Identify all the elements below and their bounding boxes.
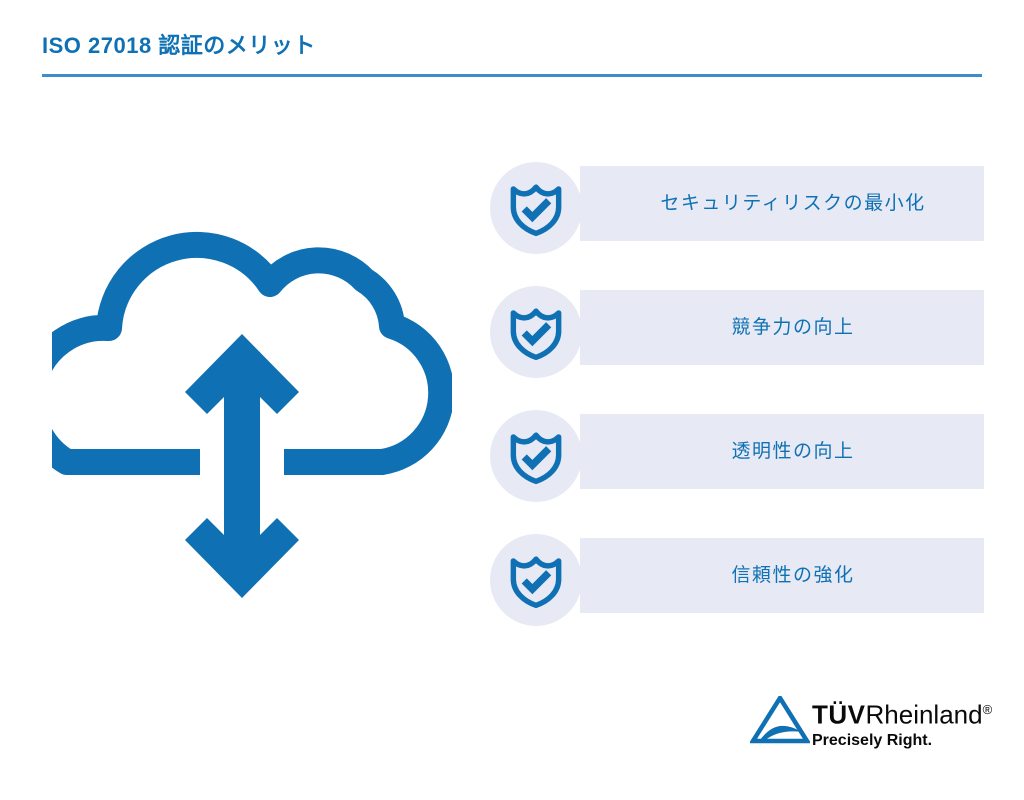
tuv-rheinland-triangle-icon (750, 696, 810, 744)
tuv-rheinland-logo: TÜVRheinland® Precisely Right. (750, 694, 988, 756)
benefit-row[interactable]: 競争力の向上 (490, 286, 984, 378)
logo-brand-regular: Rheinland (866, 700, 983, 730)
logo-brand-bold: TÜV (812, 700, 866, 730)
benefit-label: セキュリティリスクの最小化 (638, 191, 925, 217)
shield-check-icon (490, 286, 582, 378)
benefit-row[interactable]: 透明性の向上 (490, 410, 984, 502)
page-title: ISO 27018 認証のメリット (42, 32, 316, 60)
benefit-label: 信頼性の強化 (709, 563, 854, 589)
benefit-label: 透明性の向上 (709, 439, 854, 465)
benefit-row[interactable]: 信頼性の強化 (490, 534, 984, 626)
benefit-bar: 信頼性の強化 (580, 538, 984, 613)
benefits-list: セキュリティリスクの最小化 競争力の向上 透明性の向 (490, 162, 984, 618)
benefit-label: 競争力の向上 (709, 315, 854, 341)
shield-check-icon (490, 410, 582, 502)
cloud-upload-download-icon (52, 222, 452, 602)
registered-trademark-icon: ® (983, 702, 993, 717)
benefit-bar: 競争力の向上 (580, 290, 984, 365)
benefit-row[interactable]: セキュリティリスクの最小化 (490, 162, 984, 254)
logo-tagline: Precisely Right. (812, 731, 932, 751)
title-divider (42, 74, 982, 77)
slide-canvas: ISO 27018 認証のメリット セキュリティリスクの最小化 (0, 0, 1024, 800)
benefit-bar: セキュリティリスクの最小化 (580, 166, 984, 241)
logo-wordmark: TÜVRheinland® (812, 694, 992, 731)
shield-check-icon (490, 162, 582, 254)
benefit-bar: 透明性の向上 (580, 414, 984, 489)
shield-check-icon (490, 534, 582, 626)
